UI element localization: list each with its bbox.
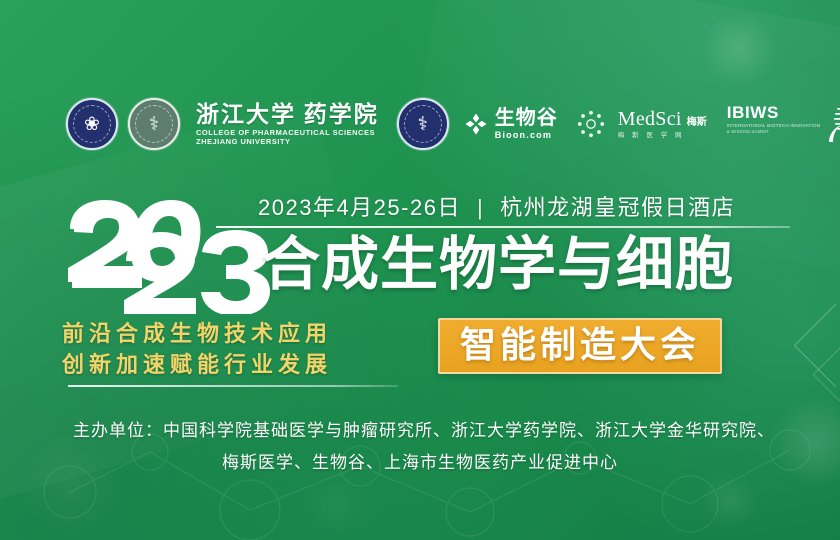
chevron-decoration-icon [794, 304, 840, 387]
zju-chinese-name: 浙江大学 药学院 [196, 103, 379, 126]
event-venue: 杭州龙湖皇冠假日酒店 [500, 195, 735, 220]
bokeh-circle [300, 470, 370, 540]
event-date: 2023年4月25-26日 [258, 195, 461, 220]
zju-english-line1: COLLEGE OF PHARMACEUTICAL SCIENCES [196, 129, 379, 137]
bioon-domain: Bioon.com [495, 131, 558, 140]
year-2023-logo [62, 196, 272, 314]
ibiws-logo: IBIWS INTERNATIONAL BIOTECH INNOVATION &… [727, 104, 840, 144]
event-date-venue: 2023年4月25-26日|杭州龙湖皇冠假日酒店 [258, 190, 735, 222]
slogan-line-2: 创新加速赋能行业发展 [62, 349, 332, 380]
organizers-line-2: 梅斯医学、生物谷、上海市生物医药产业促进中心 [0, 447, 840, 479]
zhejiang-university-wordmark: 浙江大学 药学院 COLLEGE OF PHARMACEUTICAL SCIEN… [196, 103, 379, 145]
organizers-block: 主办单位：中国科学院基础医学与肿瘤研究所、浙江大学药学院、浙江大学金华研究院、 … [0, 415, 840, 480]
dot-circle-logo-icon [576, 109, 606, 139]
seal-logo-1-icon: ❀ [66, 98, 118, 150]
date-venue-separator: | [477, 195, 484, 221]
seal-logo-2-icon: ⚕ [128, 98, 180, 150]
conference-poster: ❀ ⚕ 浙江大学 药学院 COLLEGE OF PHARMACEUTICAL S… [0, 0, 840, 540]
ibiws-subtitle-line1: INTERNATIONAL BIOTECH INNOVATION [727, 124, 821, 129]
medsci-chinese-name: 梅斯 [687, 118, 707, 128]
zju-english-line2: ZHEJIANG UNIVERSITY [196, 138, 379, 146]
dna-helix-icon [823, 98, 840, 144]
medsci-english-name: MedSci [618, 109, 682, 129]
medsci-logo: MedSci 梅斯 梅 斯 医 学 网 [618, 109, 707, 140]
bioon-logo: 生物谷 Bioon.com [463, 108, 558, 140]
slogan-line-1: 前沿合成生物技术应用 [62, 318, 332, 349]
seal-logo-3-icon: ⚕ [397, 98, 449, 150]
bioon-chinese-name: 生物谷 [495, 108, 558, 128]
bioon-pinwheel-icon [463, 111, 489, 137]
ibiws-name: IBIWS [727, 104, 821, 121]
ibiws-subtitle-line2: & WISDOM SUMMIT [727, 130, 821, 134]
bokeh-circle [700, 10, 778, 88]
event-slogan: 前沿合成生物技术应用 创新加速赋能行业发展 [62, 318, 332, 380]
organizers-line-1: 主办单位：中国科学院基础医学与肿瘤研究所、浙江大学药学院、浙江大学金华研究院、 [0, 415, 840, 447]
divider-under-slogan [68, 385, 398, 387]
chevron-decoration-icon [813, 343, 840, 407]
divider-under-date [216, 226, 790, 228]
page-title: 合成生物学与细胞 [262, 236, 734, 294]
title-badge: 智能制造大会 [438, 318, 722, 374]
sponsor-logo-bar: ❀ ⚕ 浙江大学 药学院 COLLEGE OF PHARMACEUTICAL S… [66, 93, 782, 155]
medsci-subtitle: 梅 斯 医 学 网 [618, 133, 707, 140]
